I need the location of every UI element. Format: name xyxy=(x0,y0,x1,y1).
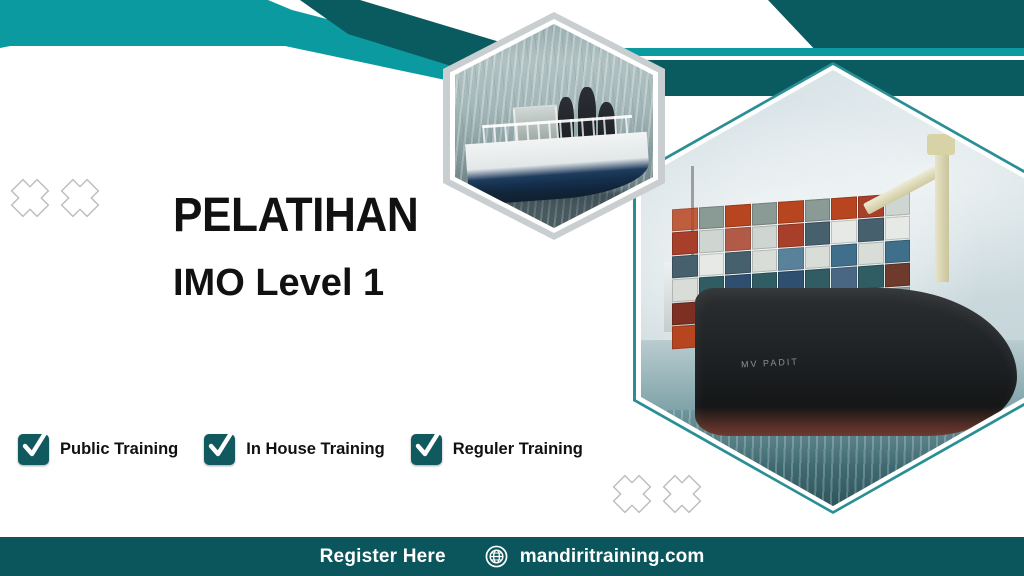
training-option-reguler[interactable]: Reguler Training xyxy=(411,434,583,465)
page-title: PELATIHAN xyxy=(173,188,418,243)
checkbox-checked-icon[interactable] xyxy=(204,434,235,465)
ship-scene: MV PADIT xyxy=(641,70,1024,506)
crane-head xyxy=(927,134,955,155)
x-cross-icon xyxy=(8,176,52,220)
page-subtitle: IMO Level 1 xyxy=(173,262,384,305)
promotional-training-banner: MV PADIT PELATIHAN IMO Level 1 xyxy=(0,0,1024,576)
footer-bar: Register Here mandiritraining.com xyxy=(0,537,1024,576)
website-url[interactable]: mandiritraining.com xyxy=(520,546,705,568)
training-option-label: Public Training xyxy=(60,440,178,459)
training-option-in-house[interactable]: In House Training xyxy=(204,434,384,465)
x-cross-icon xyxy=(58,176,102,220)
boat-crew-photo xyxy=(443,12,665,240)
training-option-label: Reguler Training xyxy=(453,440,583,459)
hex-photo-clip: MV PADIT xyxy=(641,70,1024,506)
crane-arm xyxy=(863,164,943,214)
training-options-row: Public Training In House Training Regule… xyxy=(18,434,609,465)
checkbox-checked-icon[interactable] xyxy=(411,434,442,465)
checkbox-checked-icon[interactable] xyxy=(18,434,49,465)
training-option-public[interactable]: Public Training xyxy=(18,434,178,465)
training-option-label: In House Training xyxy=(246,440,384,459)
ship-crane xyxy=(856,131,964,279)
crane-tower xyxy=(935,146,949,282)
container-ship-photo: MV PADIT xyxy=(633,62,1024,514)
decoration-crosses-left xyxy=(8,176,102,220)
register-here-label[interactable]: Register Here xyxy=(320,546,446,568)
globe-icon xyxy=(485,545,508,568)
